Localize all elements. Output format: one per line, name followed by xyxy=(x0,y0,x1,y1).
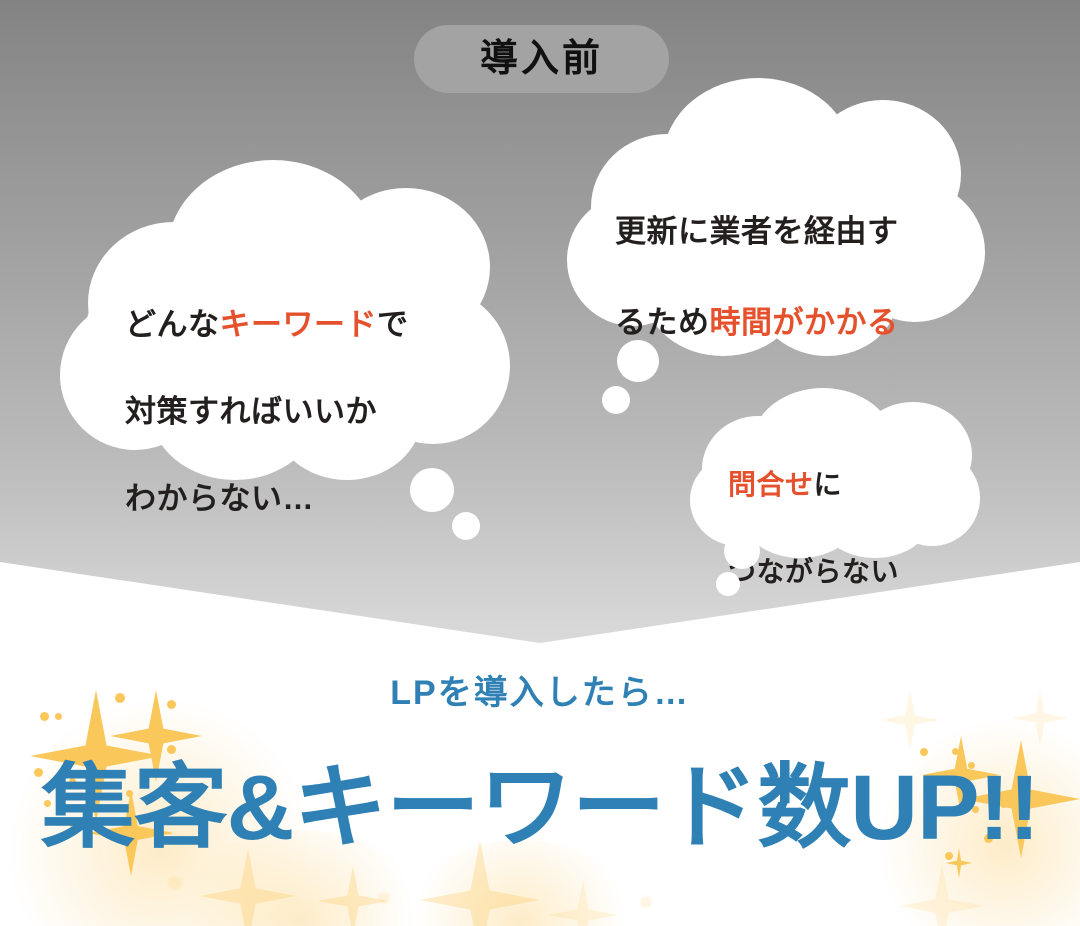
thought-tail-dot-small xyxy=(602,386,630,414)
bubble-text-segment: 更新に業者を経由す xyxy=(615,214,899,249)
bubble-text-segment: に xyxy=(814,469,843,500)
small-dot-sparkle xyxy=(55,713,62,720)
small-dot-sparkle xyxy=(97,745,104,752)
thought-bubble-no-inquiry-text: 問合せに つながらない xyxy=(728,420,968,637)
small-dot-sparkle xyxy=(952,748,959,755)
before-label-text: 導入前 xyxy=(480,40,603,78)
small-dot-sparkle-faded xyxy=(378,892,390,904)
bubble-text-segment: 対策すればいいか xyxy=(125,394,377,429)
bubble-text-segment: で xyxy=(377,307,409,342)
promo-graphic-canvas: 導入前 どんなキーワードで 対策すればいいか わからない… 更新に業者を経由す … xyxy=(0,0,1080,926)
after-subheading: LPを導入したら… xyxy=(0,665,1080,714)
thought-tail-dot-small xyxy=(452,512,480,540)
thought-bubble-update-time-text: 更新に業者を経由す るため時間がかかる xyxy=(615,164,955,390)
small-dot-sparkle xyxy=(167,745,176,754)
bubble-text-segment-accent: 時間がかかる xyxy=(710,305,899,340)
thought-tail-dot-large xyxy=(410,468,454,512)
bubble-line: 問合せに xyxy=(728,463,968,506)
thought-tail-dot-small xyxy=(716,572,740,596)
thought-bubble-no-inquiry: 問合せに つながらない xyxy=(690,388,980,558)
bubble-line: 更新に業者を経由す xyxy=(615,209,955,254)
small-dot-sparkle xyxy=(920,748,928,756)
thought-tail-dot-large xyxy=(724,533,760,569)
bubble-text-segment: どんな xyxy=(125,307,220,342)
before-label-badge: 導入前 xyxy=(414,25,669,93)
bubble-text-segment-accent: キーワード xyxy=(220,307,378,342)
thought-bubble-keyword: どんなキーワードで 対策すればいいか わからない… xyxy=(60,160,510,480)
bubble-line: るため時間がかかる xyxy=(615,300,955,345)
small-dot-sparkle-faded xyxy=(640,896,652,908)
bubble-line: つながらない xyxy=(728,550,968,593)
bubble-text-segment-accent: 問合せ xyxy=(728,469,814,500)
after-headline: 集客&キーワード数UP!! xyxy=(0,762,1080,854)
bubble-text-segment: わからない… xyxy=(125,481,314,516)
thought-bubble-keyword-text: どんなキーワードで 対策すればいいか わからない… xyxy=(125,260,465,564)
small-dot-sparkle-faded xyxy=(168,876,182,890)
thought-bubble-update-time: 更新に業者を経由す るため時間がかかる xyxy=(567,78,985,358)
bubble-text-segment: るため xyxy=(615,305,710,340)
bubble-line: 対策すればいいか xyxy=(125,390,465,433)
thought-tail-dot-large xyxy=(617,340,659,382)
bubble-line: どんなキーワードで xyxy=(125,303,465,346)
